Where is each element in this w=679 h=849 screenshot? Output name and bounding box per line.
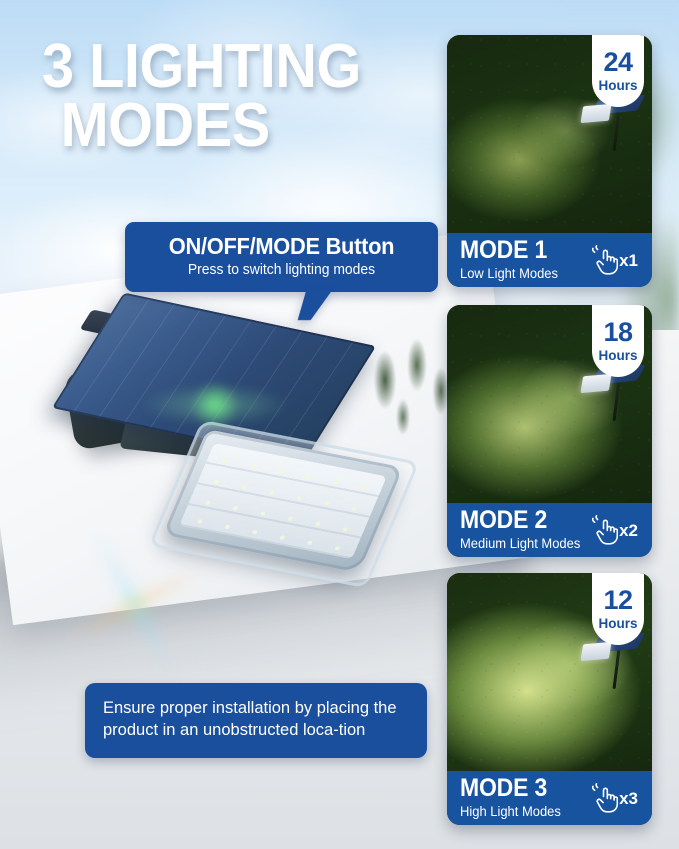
callout-title: ON/OFF/MODE Button: [142, 234, 420, 259]
product-photo: [55, 305, 415, 605]
lamp-led-head: [580, 642, 611, 661]
mode-3-label-bar: MODE 3 High Light Modes x3: [447, 771, 652, 825]
mode-1-hours-unit: Hours: [598, 79, 637, 93]
mode-1-tap-count: x1: [619, 252, 638, 269]
mode-1-hours-number: 24: [603, 49, 632, 76]
infographic-page: 3 LIGHTING MODES ON/OFF/MODE Button Pres…: [0, 0, 679, 849]
mode-3-tap-group: x3: [592, 783, 638, 813]
mode-2-hours-unit: Hours: [598, 349, 637, 363]
mode-1-subtitle: Low Light Modes: [460, 267, 587, 282]
mode-1-label-bar: MODE 1 Low Light Modes x1: [447, 233, 652, 287]
lamp-led-head: [580, 374, 611, 393]
page-title-line-2: MODES: [42, 97, 395, 156]
mode-2-label-bar: MODE 2 Medium Light Modes x2: [447, 503, 652, 557]
mode-2-text: MODE 2 Medium Light Modes: [460, 508, 592, 552]
mode-3-tap-count: x3: [619, 790, 638, 807]
mode-3-photo: 12 Hours: [447, 573, 652, 771]
installation-note: Ensure proper installation by placing th…: [85, 683, 427, 758]
page-title: 3 LIGHTING MODES: [42, 38, 395, 156]
hand-tap-icon: [592, 783, 618, 813]
mode-3-hours-unit: Hours: [598, 617, 637, 631]
mode-3-hours-badge: 12 Hours: [592, 573, 644, 645]
hand-tap-icon: [592, 515, 618, 545]
callout-subtitle: Press to switch lighting modes: [141, 261, 422, 279]
mode-card-2[interactable]: 18 Hours MODE 2 Medium Light Modes: [447, 305, 652, 557]
button-callout: ON/OFF/MODE Button Press to switch light…: [125, 222, 438, 292]
mode-3-text: MODE 3 High Light Modes: [460, 776, 592, 820]
mode-3-hours-number: 12: [603, 587, 632, 614]
mode-1-hours-badge: 24 Hours: [592, 35, 644, 107]
mode-2-title: MODE 2: [460, 508, 582, 533]
lamp-stake: [613, 649, 621, 689]
mode-1-tap-group: x1: [592, 245, 638, 275]
mode-1-title: MODE 1: [460, 238, 582, 263]
mode-1-text: MODE 1 Low Light Modes: [460, 238, 592, 282]
mode-2-subtitle: Medium Light Modes: [460, 537, 587, 552]
mode-2-tap-group: x2: [592, 515, 638, 545]
mode-2-photo: 18 Hours: [447, 305, 652, 503]
mode-3-subtitle: High Light Modes: [460, 805, 587, 820]
hand-tap-icon: [592, 245, 618, 275]
mode-2-hours-number: 18: [603, 319, 632, 346]
mode-2-tap-count: x2: [619, 522, 638, 539]
lamp-stake: [613, 381, 621, 421]
mode-1-photo: 24 Hours: [447, 35, 652, 233]
mode-3-title: MODE 3: [460, 776, 582, 801]
mode-card-1[interactable]: 24 Hours MODE 1 Low Light Modes: [447, 35, 652, 287]
lamp-stake: [613, 111, 621, 151]
mode-2-hours-badge: 18 Hours: [592, 305, 644, 377]
mode-card-3[interactable]: 12 Hours MODE 3 High Light Modes: [447, 573, 652, 825]
lamp-led-head: [580, 104, 611, 123]
